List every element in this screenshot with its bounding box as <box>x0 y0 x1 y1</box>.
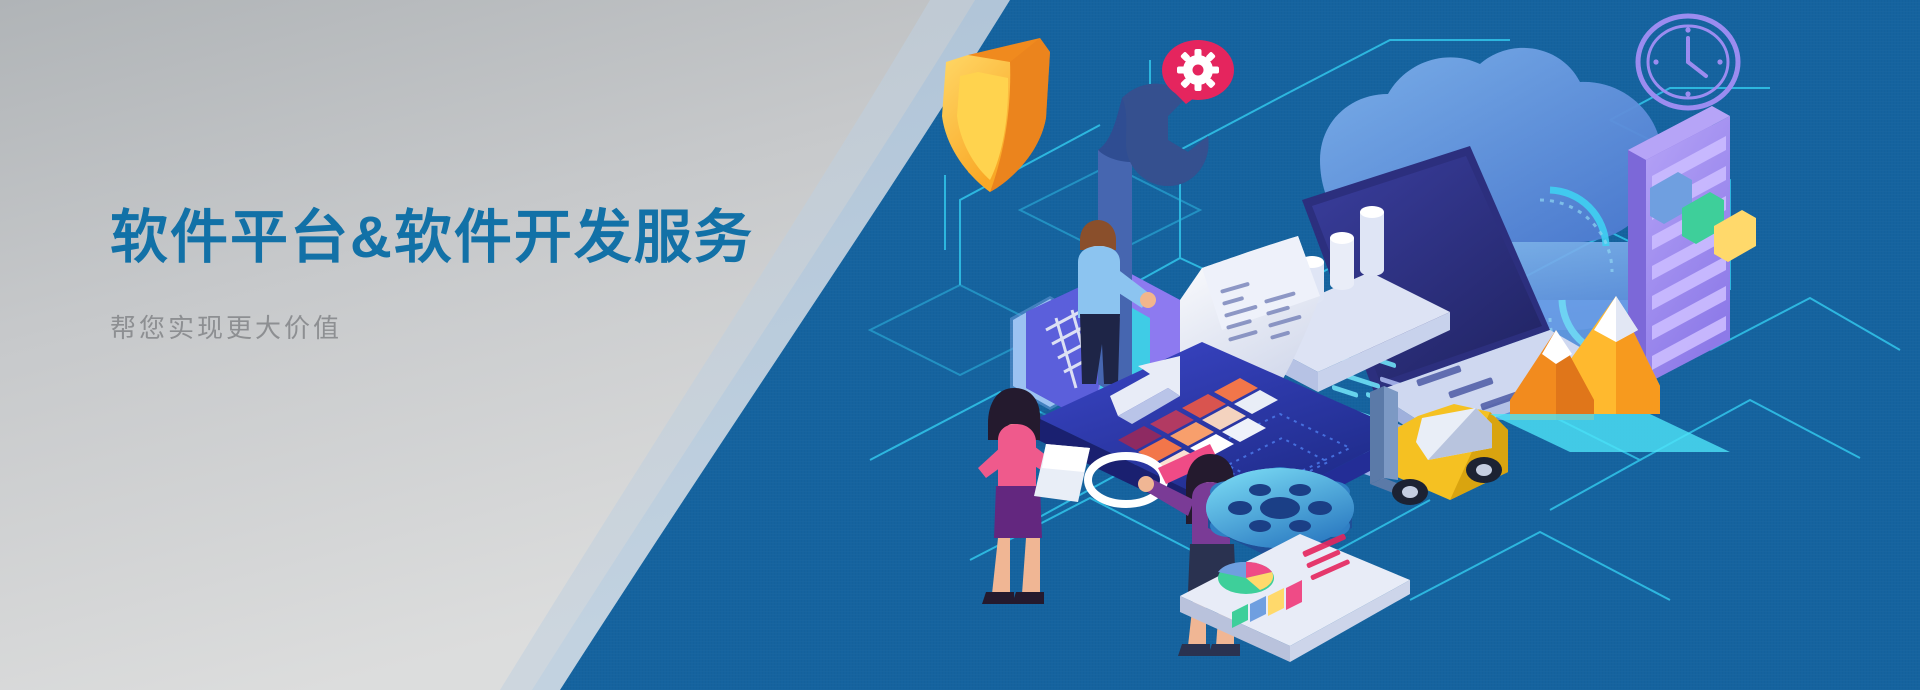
document-panel <box>1628 106 1756 384</box>
pie-chart-glyph <box>1218 562 1274 594</box>
clock-icon <box>1638 16 1738 108</box>
hero-illustration <box>850 0 1920 690</box>
page-title: 软件平台&软件开发服务 <box>110 205 870 272</box>
page-subtitle: 帮您实现更大价值 <box>110 312 870 346</box>
hero-banner: 软件平台&软件开发服务 帮您实现更大价值 <box>0 0 1920 690</box>
shield-icon <box>942 38 1050 192</box>
hero-copy: 软件平台&软件开发服务 帮您实现更大价值 <box>110 205 870 345</box>
